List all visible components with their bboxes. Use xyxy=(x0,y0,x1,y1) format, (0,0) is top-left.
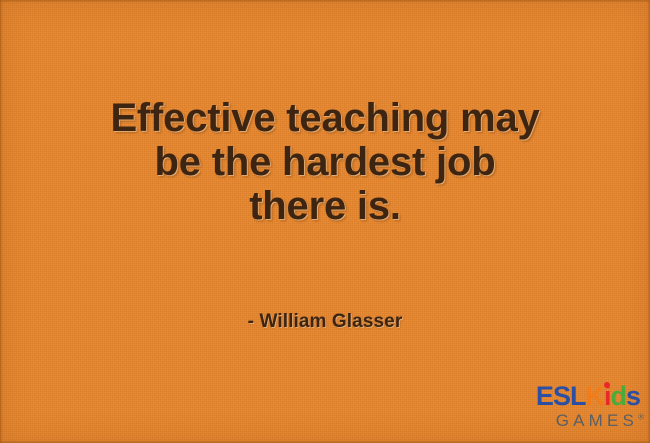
poster-content: Effective teaching may be the hardest jo… xyxy=(0,0,650,443)
esl-kids-games-logo[interactable]: ESLKids GAMES® xyxy=(536,383,640,430)
quote-text-block: Effective teaching may be the hardest jo… xyxy=(0,96,650,228)
quote-poster: Effective teaching may be the hardest jo… xyxy=(0,0,650,443)
logo-wordmark-bottom: GAMES® xyxy=(536,411,644,430)
logo-letter-e: E xyxy=(536,383,553,410)
logo-letter-s2: s xyxy=(626,383,640,410)
logo-letter-k: K xyxy=(585,383,604,410)
logo-letter-s: S xyxy=(553,383,570,410)
quote-line-3: there is. xyxy=(0,184,650,228)
logo-letter-d: d xyxy=(610,383,626,410)
logo-letter-i-wrapper: i xyxy=(604,383,611,410)
logo-wordmark-top: ESLKids xyxy=(536,383,640,410)
logo-games-text: GAMES xyxy=(556,411,638,430)
quote-line-1: Effective teaching may xyxy=(0,96,650,140)
logo-trademark-symbol: ® xyxy=(638,412,644,421)
logo-i-dot-icon xyxy=(604,382,610,388)
quote-attribution: - William Glasser xyxy=(0,311,650,333)
quote-line-2: be the hardest job xyxy=(0,140,650,184)
logo-letter-l: L xyxy=(570,383,586,410)
